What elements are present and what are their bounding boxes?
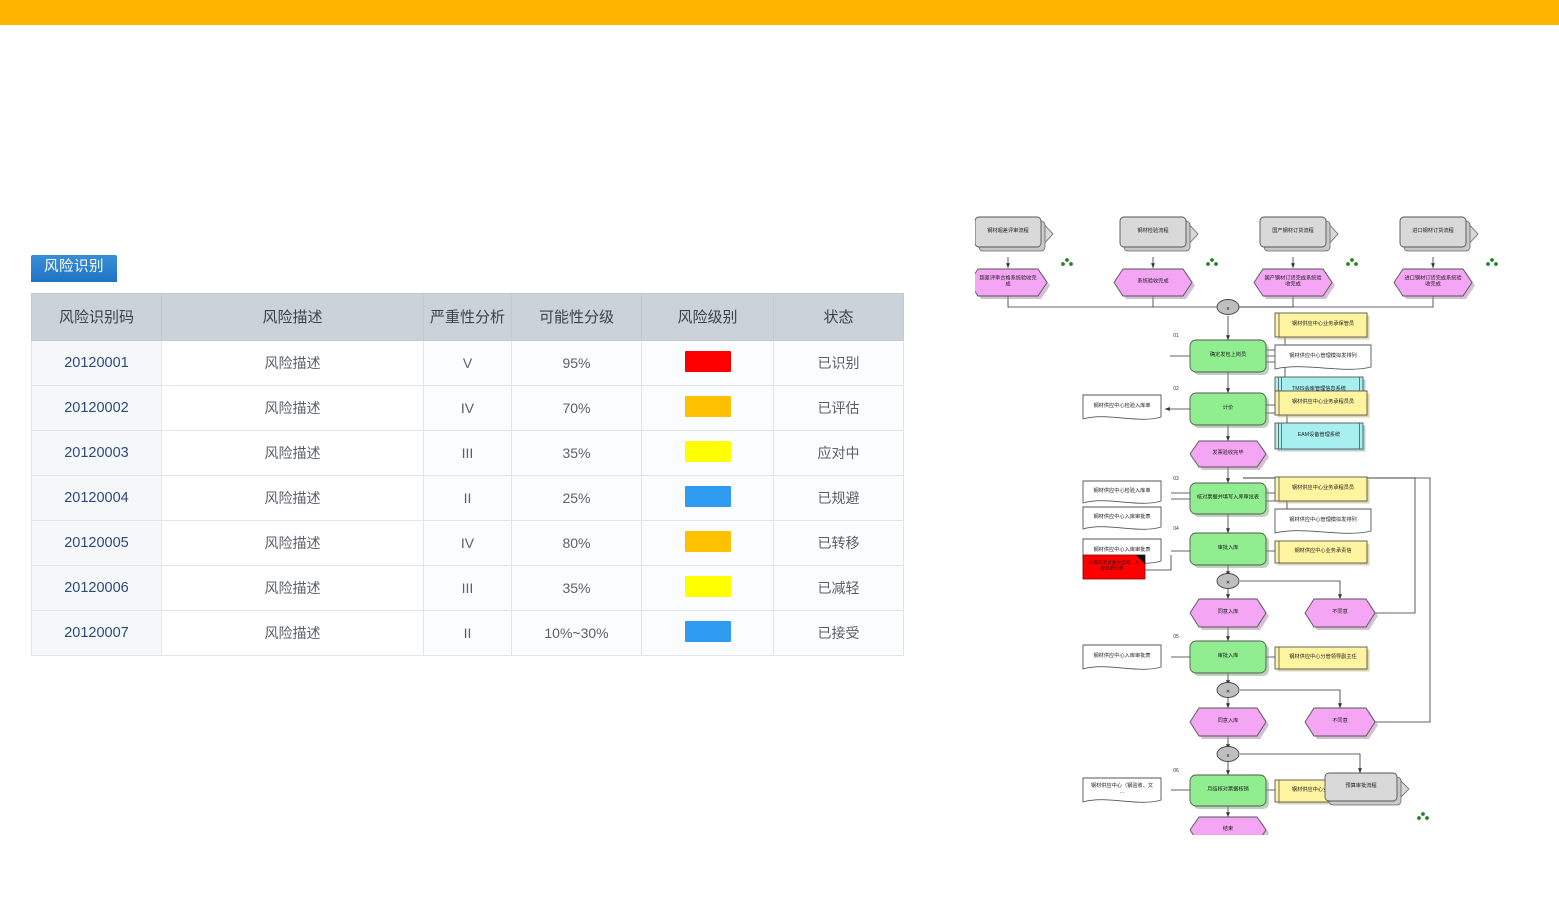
cell-risk-level [642, 340, 774, 385]
table-row[interactable]: 20120006风险描述III35%已减轻 [32, 565, 904, 610]
svg-text:钢材检验流程: 钢材检验流程 [1137, 226, 1168, 234]
gateway-or[interactable]: ∨ [1217, 300, 1239, 315]
svg-text:EAM设备管理系统: EAM设备管理系统 [1298, 430, 1340, 438]
cell-probability: 70% [512, 385, 642, 430]
gateway-xor-2[interactable]: ✕ [1217, 683, 1239, 698]
cell-description: 风险描述 [162, 610, 424, 655]
svg-text:不同意: 不同意 [1332, 716, 1348, 724]
table-row[interactable]: 20120002风险描述IV70%已评估 [32, 385, 904, 430]
risk-level-swatch [685, 621, 731, 642]
table-row[interactable]: 20120003风险描述III35%应对中 [32, 430, 904, 475]
cell-severity: IV [424, 520, 512, 565]
svg-text:钢材供应中心业务承程员员: 钢材供应中心业务承程员员 [1292, 483, 1354, 491]
cell-code[interactable]: 20120003 [32, 430, 162, 475]
table-row[interactable]: 20120004风险描述II25%已规避 [32, 475, 904, 520]
svg-text:收完成: 收完成 [1285, 280, 1301, 288]
svg-text:发票验收完毕: 发票验收完毕 [1212, 448, 1243, 456]
svg-text:钢材供应中心管理模拟发排列: 钢材供应中心管理模拟发排列 [1289, 515, 1356, 523]
svg-text:…: … [1119, 789, 1124, 795]
svg-text:不同意: 不同意 [1332, 607, 1348, 615]
svg-text:∧: ∧ [1226, 753, 1230, 759]
risk-level-swatch [685, 396, 731, 417]
svg-text:进口钢材订货流程: 进口钢材订货流程 [1412, 226, 1454, 234]
risk-table: 风险识别码 风险描述 严重性分析 可能性分级 风险级别 状态 20120001风… [31, 293, 904, 656]
svg-text:钢材供应中心（钢验收、文: 钢材供应中心（钢验收、文 [1091, 781, 1154, 789]
svg-text:确定发包上岗员: 确定发包上岗员 [1210, 350, 1246, 358]
link-node-l3[interactable] [1260, 217, 1358, 266]
cell-description: 风险描述 [162, 475, 424, 520]
svg-text:钢材供应中心入库审批表: 钢材供应中心入库审批表 [1093, 651, 1151, 659]
cell-description: 风险描述 [162, 385, 424, 430]
link-node-l1[interactable] [975, 217, 1073, 266]
cell-severity: II [424, 610, 512, 655]
cell-code[interactable]: 20120007 [32, 610, 162, 655]
cell-severity: V [424, 340, 512, 385]
svg-text:钢材供应中心业务承责信: 钢材供应中心业务承责信 [1294, 546, 1351, 554]
tab-risk-identification[interactable]: 风险识别 [31, 255, 117, 282]
cell-description: 风险描述 [162, 565, 424, 610]
cell-risk-level [642, 385, 774, 430]
svg-text:钢材供应中心检验入库单: 钢材供应中心检验入库单 [1093, 486, 1150, 494]
svg-text:国产钢材订货完成系统验: 国产钢材订货完成系统验 [1264, 274, 1322, 282]
column-header-severity[interactable]: 严重性分析 [424, 293, 512, 340]
svg-text:成: 成 [1005, 280, 1010, 288]
svg-text:进口钢材订货完成系统验: 进口钢材订货完成系统验 [1404, 274, 1462, 282]
gateway-and[interactable]: ∧ [1217, 747, 1239, 762]
cell-description: 风险描述 [162, 520, 424, 565]
risk-level-swatch [685, 531, 731, 552]
svg-text:超差评审合格系统验收完: 超差评审合格系统验收完 [979, 274, 1036, 282]
cell-status: 应对中 [774, 430, 904, 475]
cell-risk-level [642, 475, 774, 520]
svg-text:钢材供应中心管理模拟发排列: 钢材供应中心管理模拟发排列 [1289, 351, 1356, 359]
cell-probability: 35% [512, 430, 642, 475]
svg-text:03: 03 [1173, 476, 1179, 482]
cell-severity: III [424, 565, 512, 610]
cell-risk-level [642, 565, 774, 610]
column-header-description[interactable]: 风险描述 [162, 293, 424, 340]
cell-risk-level [642, 520, 774, 565]
risk-level-swatch [685, 441, 731, 462]
svg-text:预算审批流程: 预算审批流程 [1345, 781, 1376, 789]
svg-text:05: 05 [1173, 634, 1179, 640]
svg-text:钢材超差评审流程: 钢材超差评审流程 [987, 226, 1029, 234]
cell-severity: III [424, 430, 512, 475]
svg-text:月结核对票据核销: 月结核对票据核销 [1207, 785, 1249, 793]
svg-text:∨: ∨ [1226, 306, 1230, 312]
cell-status: 已评估 [774, 385, 904, 430]
cell-probability: 25% [512, 475, 642, 520]
link-node-l5[interactable] [1325, 773, 1429, 820]
cell-code[interactable]: 20120002 [32, 385, 162, 430]
cell-severity: II [424, 475, 512, 520]
table-row[interactable]: 20120007风险描述II10%~30%已接受 [32, 610, 904, 655]
gateway-xor-1[interactable]: ✕ [1217, 574, 1239, 589]
svg-text:系统验收完成: 系统验收完成 [1137, 277, 1168, 285]
svg-text:审批入库: 审批入库 [1218, 651, 1239, 659]
svg-text:02: 02 [1173, 386, 1179, 392]
svg-text:钢材供应中心入库审批表: 钢材供应中心入库审批表 [1093, 512, 1151, 520]
svg-text:国产钢材订货流程: 国产钢材订货流程 [1272, 226, 1314, 234]
svg-text:钢材供应中心分管领导副主任: 钢材供应中心分管领导副主任 [1289, 652, 1356, 660]
cell-probability: 80% [512, 520, 642, 565]
cell-code[interactable]: 20120005 [32, 520, 162, 565]
svg-text:同意入库: 同意入库 [1218, 716, 1239, 724]
cell-probability: 10%~30% [512, 610, 642, 655]
svg-text:06: 06 [1173, 768, 1179, 774]
svg-text:钢材供应中心入库审批表: 钢材供应中心入库审批表 [1093, 545, 1151, 553]
svg-text:结束: 结束 [1223, 824, 1233, 832]
svg-text:审批入库: 审批入库 [1218, 543, 1239, 551]
svg-text:库点退行第…: 库点退行第… [1100, 565, 1128, 572]
risk-level-swatch [685, 576, 731, 597]
process-node-02[interactable]: 02 [1173, 386, 1269, 428]
column-header-code[interactable]: 风险识别码 [32, 293, 162, 340]
annotation-note: 入库可责对质为全司，入库点退行第… [1083, 555, 1145, 579]
link-node-l2[interactable] [1120, 217, 1218, 266]
cell-probability: 95% [512, 340, 642, 385]
table-row[interactable]: 20120005风险描述IV80%已转移 [32, 520, 904, 565]
cell-code[interactable]: 20120006 [32, 565, 162, 610]
cell-status: 已规避 [774, 475, 904, 520]
svg-text:同意入库: 同意入库 [1218, 607, 1239, 615]
column-header-probability[interactable]: 可能性分级 [512, 293, 642, 340]
table-row[interactable]: 20120001风险描述V95%已识别 [32, 340, 904, 385]
svg-text:钢材供应中心业务承程员员: 钢材供应中心业务承程员员 [1292, 397, 1354, 405]
svg-text:04: 04 [1173, 526, 1179, 532]
event-node-e1[interactable] [975, 269, 1050, 299]
cell-description: 风险描述 [162, 430, 424, 475]
cell-status: 已转移 [774, 520, 904, 565]
process-flow-diagram: 钢材超差评审流程钢材检验流程国产钢材订货流程进口钢材订货流程超差评审合格系统验收… [975, 195, 1520, 835]
cell-risk-level [642, 610, 774, 655]
svg-text:核对票据并填写入库审批表: 核对票据并填写入库审批表 [1197, 493, 1260, 501]
top-accent-bar [0, 0, 1559, 25]
risk-level-swatch [685, 486, 731, 507]
cell-probability: 35% [512, 565, 642, 610]
svg-text:钢材供应中心业务承保管员: 钢材供应中心业务承保管员 [1292, 319, 1354, 327]
column-header-status[interactable]: 状态 [774, 293, 904, 340]
cell-code[interactable]: 20120004 [32, 475, 162, 520]
table-header-row: 风险识别码 风险描述 严重性分析 可能性分级 风险级别 状态 [32, 293, 904, 340]
svg-text:01: 01 [1173, 333, 1179, 339]
svg-text:✕: ✕ [1226, 580, 1230, 586]
cell-risk-level [642, 430, 774, 475]
risk-identification-panel: 风险识别 风险识别码 风险描述 严重性分析 可能性分级 风险级别 状态 2012… [31, 255, 904, 656]
svg-text:收完成: 收完成 [1425, 280, 1441, 288]
cell-description: 风险描述 [162, 340, 424, 385]
svg-text:钢材供应中心检验入库单: 钢材供应中心检验入库单 [1093, 401, 1150, 409]
link-node-l4[interactable] [1400, 217, 1498, 266]
risk-level-swatch [685, 351, 731, 372]
cell-status: 已接受 [774, 610, 904, 655]
column-header-level[interactable]: 风险级别 [642, 293, 774, 340]
cell-code[interactable]: 20120001 [32, 340, 162, 385]
cell-status: 已减轻 [774, 565, 904, 610]
cell-severity: IV [424, 385, 512, 430]
svg-text:计价: 计价 [1223, 403, 1234, 411]
svg-text:✕: ✕ [1226, 689, 1230, 695]
cell-status: 已识别 [774, 340, 904, 385]
